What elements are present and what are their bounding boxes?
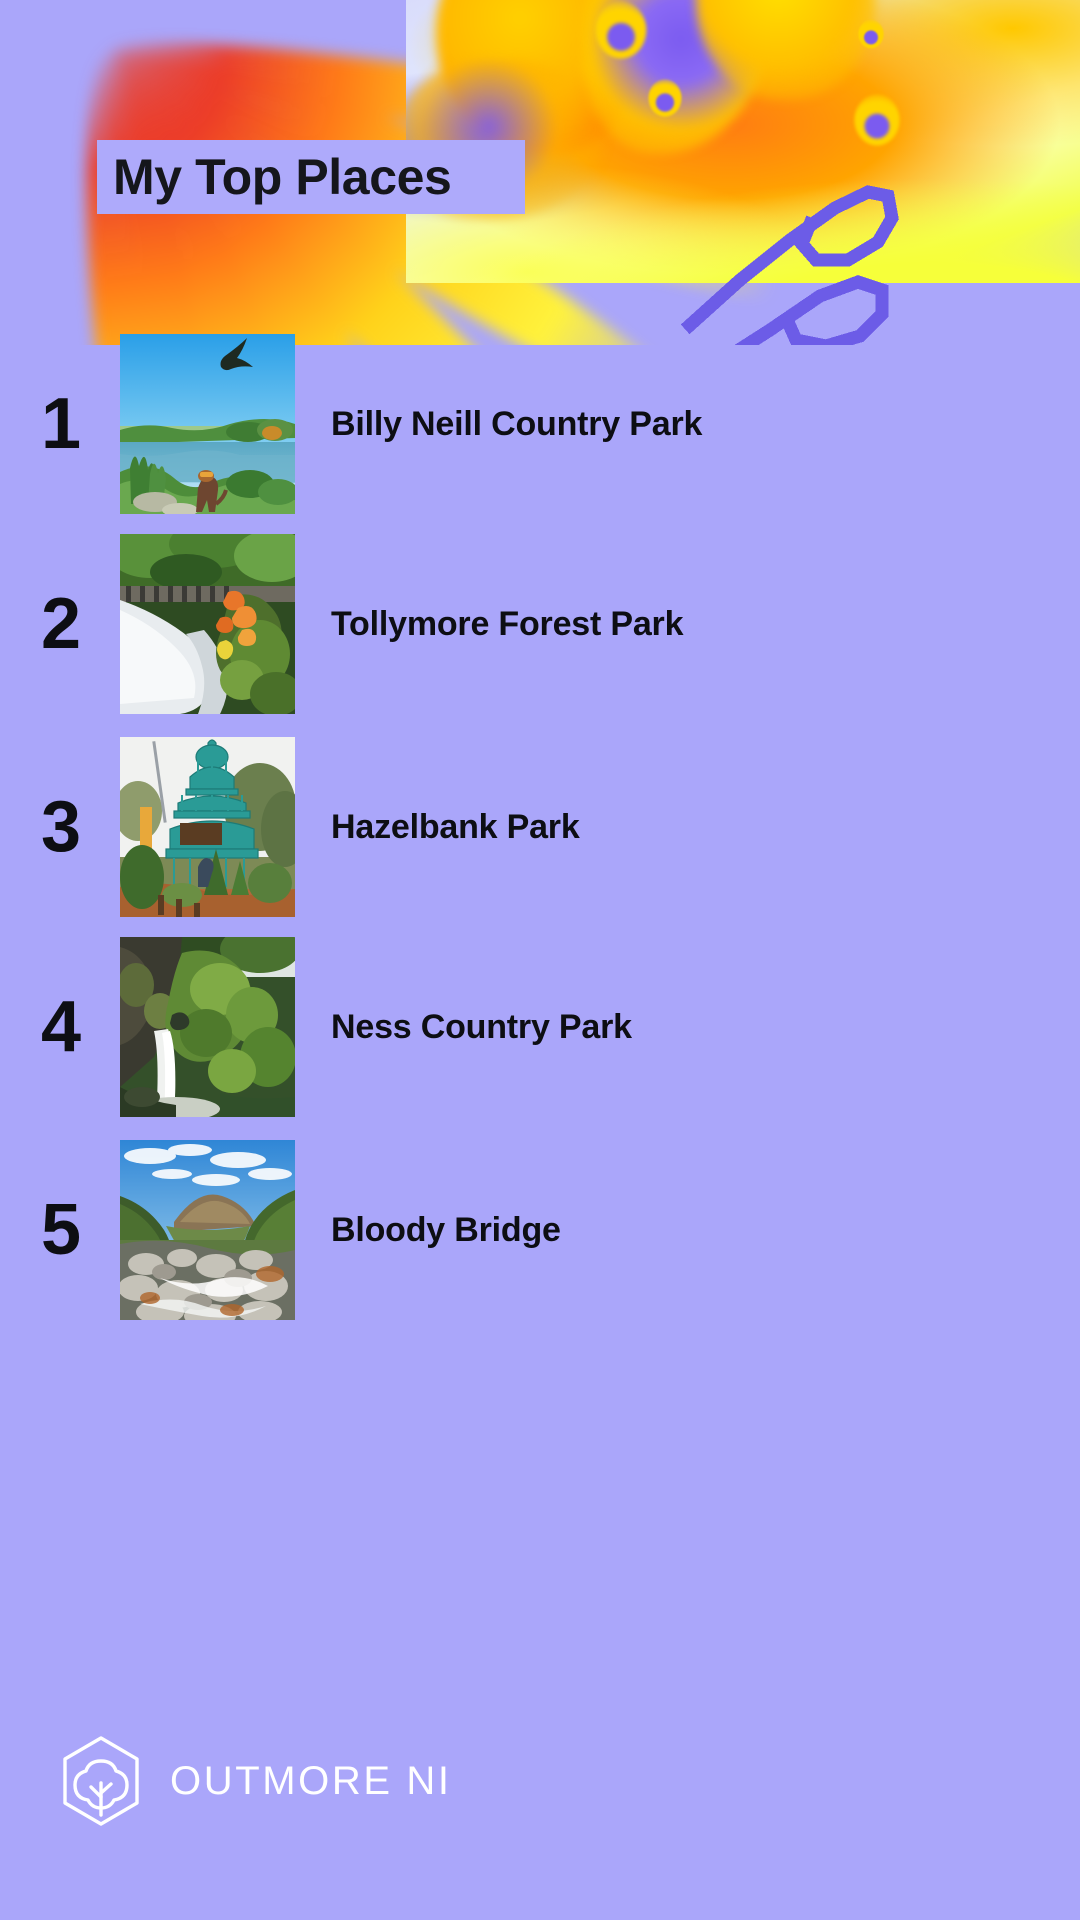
list-item-rank: 2 [0,588,120,660]
list-item-name: Tollymore Forest Park [331,599,683,650]
list-item-rank: 3 [0,791,120,863]
list-item-rank: 4 [0,991,120,1063]
purple-scribble-graphic [620,100,920,345]
list-item-thumbnail[interactable] [120,737,295,917]
list-item[interactable]: 1 [0,330,1080,518]
list-item-rank: 5 [0,1194,120,1266]
list-item-name: Hazelbank Park [331,802,580,853]
umbrella-motif-icon [858,20,883,49]
list-item[interactable]: 2 [0,530,1080,718]
list-item-thumbnail[interactable] [120,534,295,714]
list-item-thumbnail[interactable] [120,334,295,514]
list-item-name: Ness Country Park [331,1002,632,1053]
list-item-thumbnail[interactable] [120,937,295,1117]
list-item-name: Billy Neill Country Park [331,399,702,450]
list-item[interactable]: 4 [0,933,1080,1121]
list-item[interactable]: 5 [0,1136,1080,1324]
header-artwork: My Top Places [0,0,1080,345]
list-item-thumbnail[interactable] [120,1140,295,1320]
brand-footer: OUTMORE NI [58,1735,452,1827]
list-item[interactable]: 3 [0,733,1080,921]
page-title-box: My Top Places [97,140,525,214]
list-item-rank: 1 [0,388,120,460]
brand-name: OUTMORE NI [170,1759,452,1804]
hexagon-tree-logo-icon [58,1735,144,1827]
poster-canvas: My Top Places 1 [0,0,1080,1920]
list-item-name: Bloody Bridge [331,1205,561,1256]
page-title: My Top Places [113,152,451,202]
umbrella-motif-icon [596,1,647,58]
